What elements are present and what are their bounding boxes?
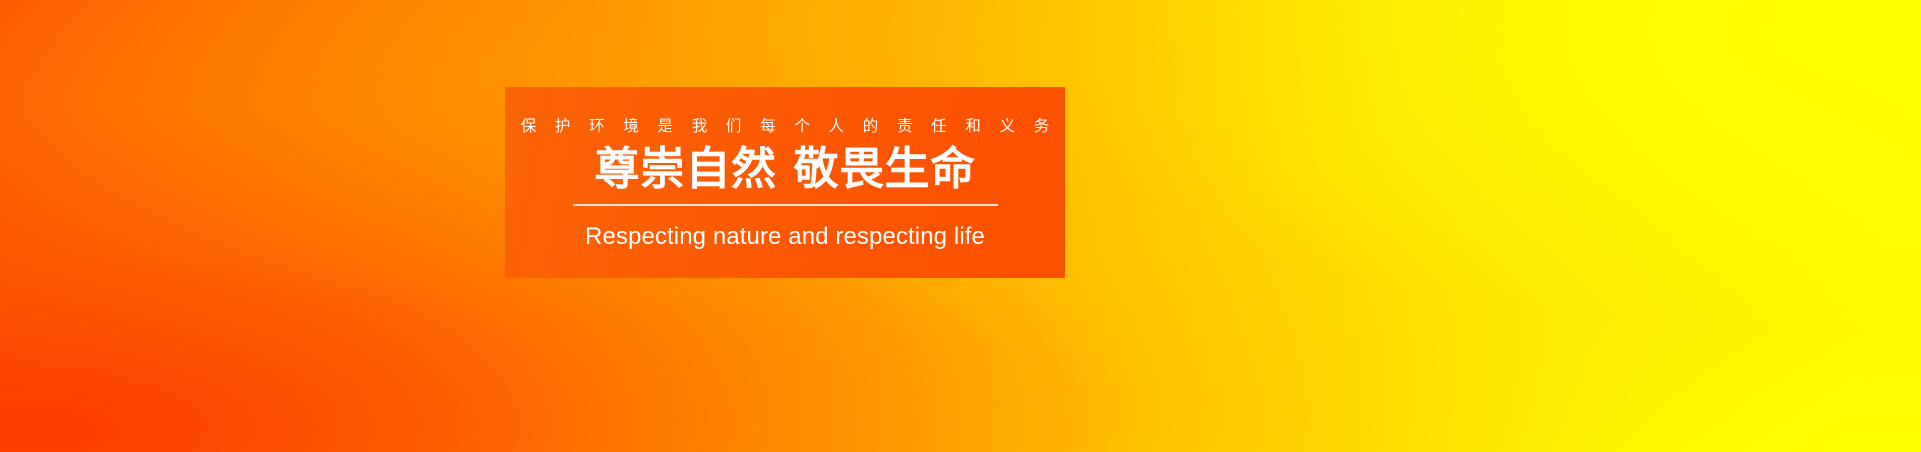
panel-headline: 尊崇自然敬畏生命 (594, 146, 975, 192)
headline-phrase-two: 敬畏生命 (794, 143, 976, 194)
panel-divider (573, 204, 998, 206)
panel-kicker-text: 保 护 环 境 是 我 们 每 个 人 的 责 任 和 义 务 (514, 119, 1057, 135)
message-panel: 保 护 环 境 是 我 们 每 个 人 的 责 任 和 义 务 尊崇自然敬畏生命… (505, 87, 1065, 278)
promo-banner: 保 护 环 境 是 我 们 每 个 人 的 责 任 和 义 务 尊崇自然敬畏生命… (0, 0, 1921, 452)
headline-phrase-one: 尊崇自然 (594, 143, 776, 194)
panel-tagline-text: Respecting nature and respecting life (585, 225, 985, 249)
